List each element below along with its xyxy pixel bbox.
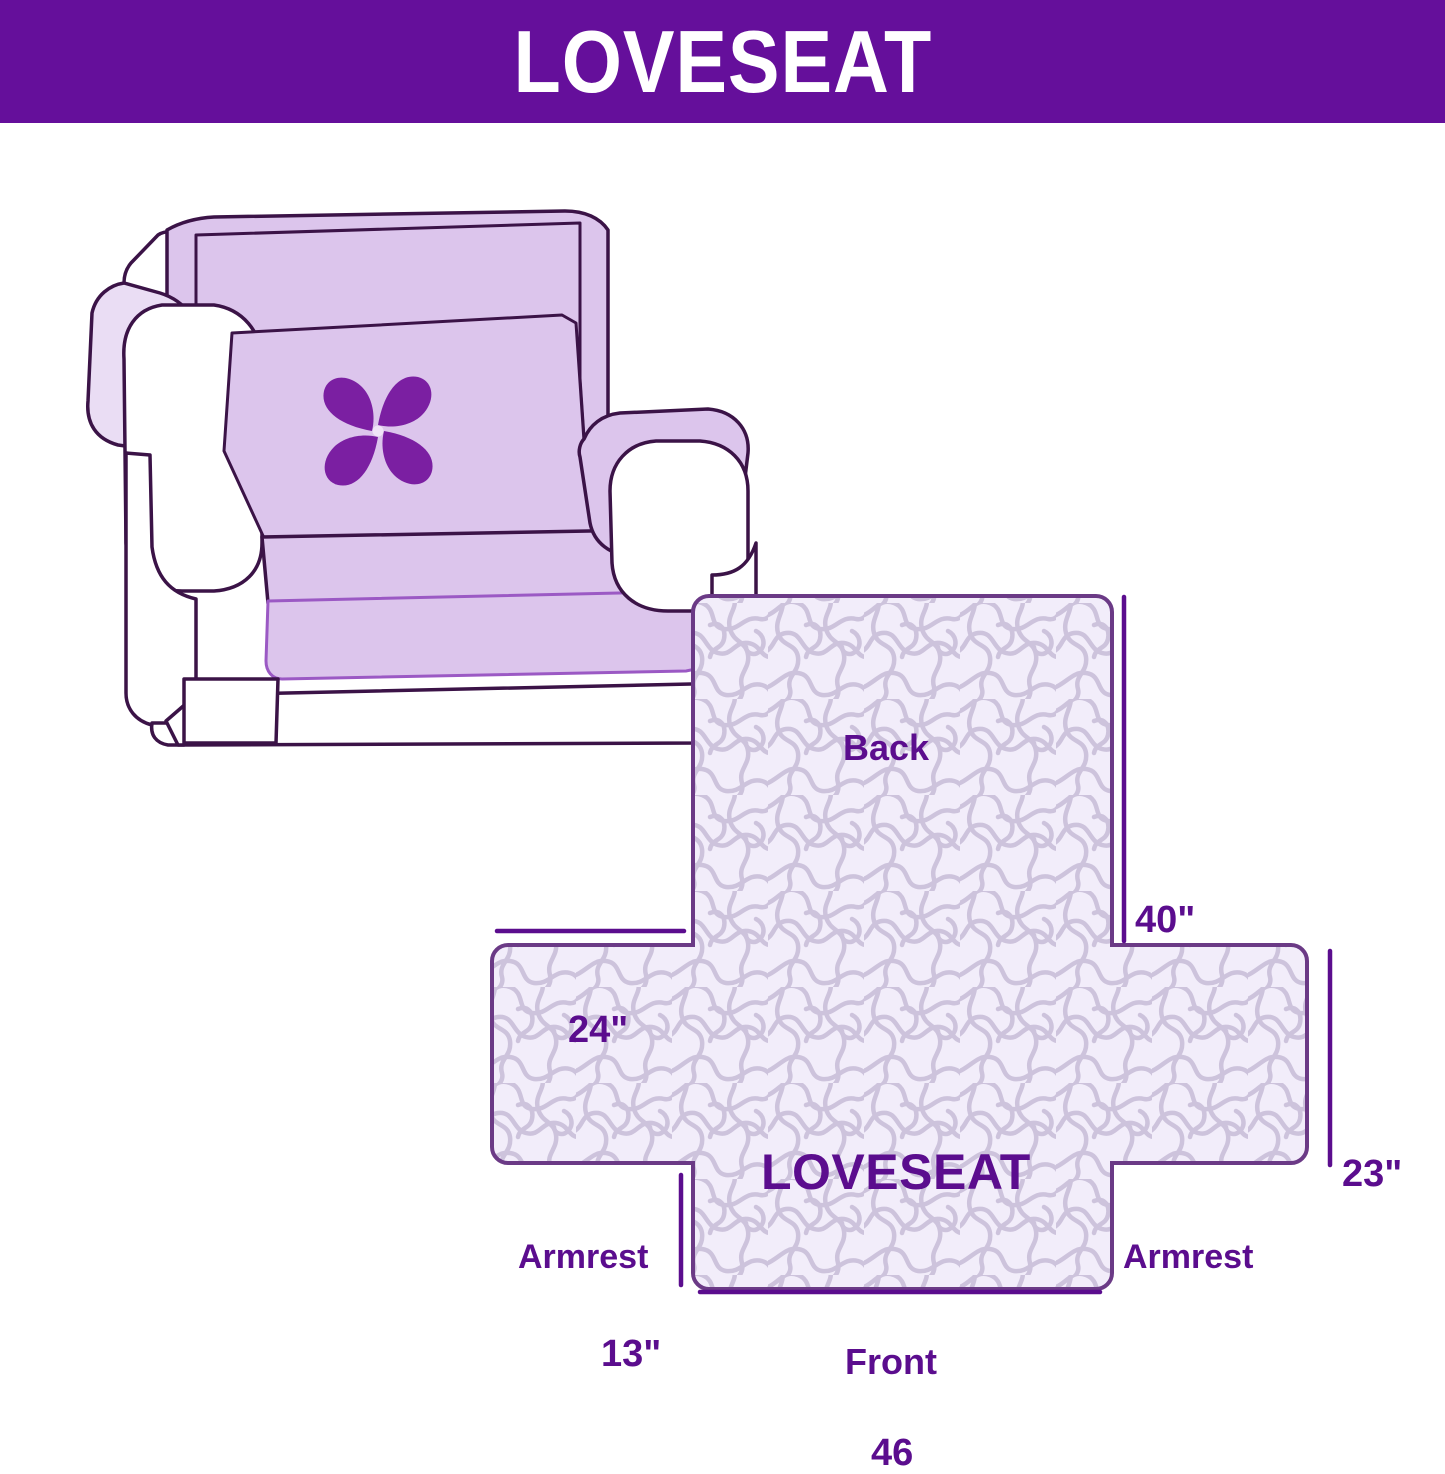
panel-label-armrest-left: Armrest [518, 1240, 648, 1274]
panel-label-armrest-right: Armrest [1123, 1240, 1253, 1274]
loveseat-sofa-illustration [88, 211, 756, 745]
dimension-label-front-width: 46 [871, 1434, 913, 1472]
illustration-canvas: Back LOVESEAT Armrest Armrest Front 40" … [0, 123, 1445, 1445]
panel-label-back: Back [843, 730, 929, 766]
page-title: LOVESEAT [513, 18, 932, 106]
dimension-label-front-depth: 13" [601, 1335, 661, 1373]
panel-label-front: Front [845, 1344, 937, 1380]
dimension-label-back-offset: 24" [568, 1011, 628, 1049]
dimension-label-arm-height: 23" [1342, 1155, 1402, 1193]
header-banner: LOVESEAT [0, 0, 1445, 123]
panel-label-center: LOVESEAT [761, 1147, 1031, 1197]
dimension-label-back-depth: 40" [1135, 901, 1195, 939]
